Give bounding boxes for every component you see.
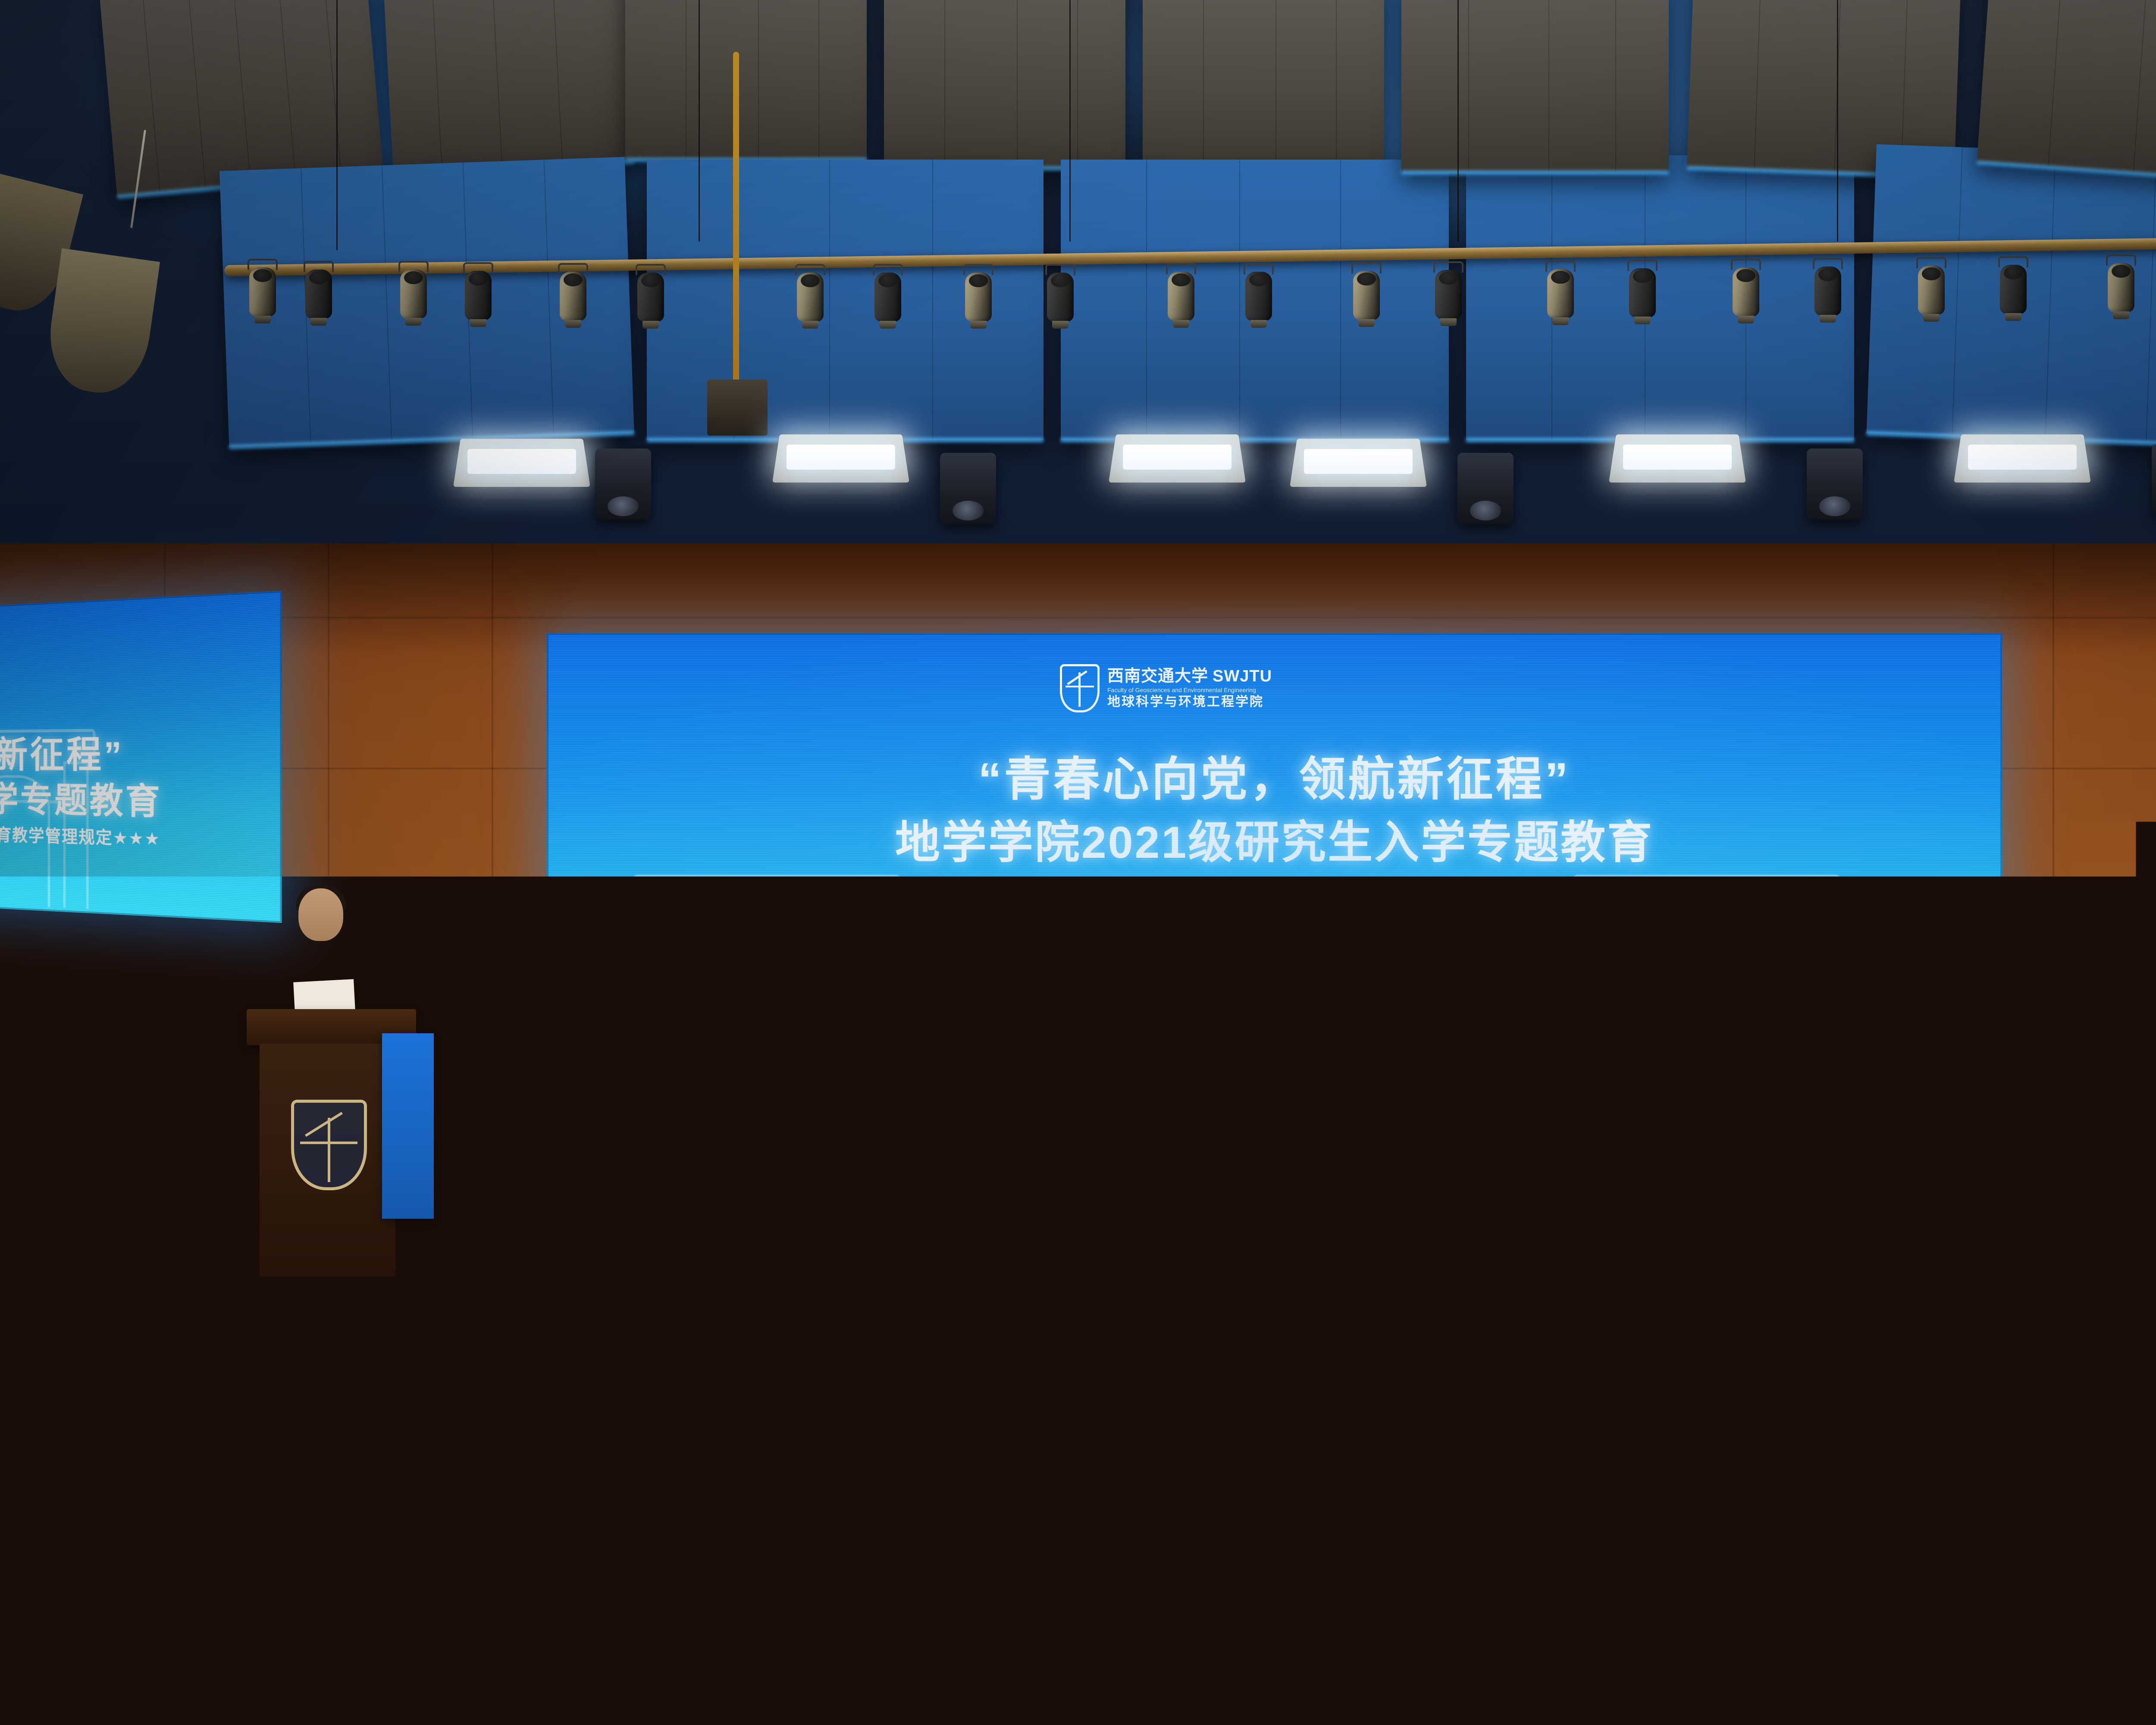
spotlight-fixture [793, 264, 827, 329]
spotlight-fixture [1242, 263, 1275, 328]
spotlight-fixture [1996, 256, 2030, 321]
slide-subheadline: 地学学院2021级研究生入学专题教育 [547, 806, 2002, 871]
audience-seat [759, 1555, 901, 1658]
floodlight [1294, 436, 1423, 487]
presidium-chair [1429, 941, 1522, 1070]
spotlight-fixture [1915, 257, 1948, 322]
speaker-notes [293, 979, 355, 1013]
acoustic-panel [625, 0, 867, 160]
spotlight-fixture [1544, 260, 1577, 325]
audience-desk [1932, 1647, 2156, 1690]
spotlight-fixture [1350, 262, 1383, 327]
moving-head-light [595, 448, 651, 520]
spotlight-fixture [246, 259, 279, 323]
left-screen-logo: SWJTU [0, 663, 1, 690]
acoustic-panel [383, 0, 635, 174]
logo-university-name: 西南交通大学SWJTU [1107, 668, 1272, 684]
spotlight-fixture [1729, 259, 1763, 323]
left-screen-headline: 领航新征程” [0, 724, 124, 779]
foreground-person [0, 1544, 229, 1725]
moving-head-light [1807, 448, 1863, 520]
spotlight-fixture [962, 264, 995, 329]
spotlight-fixture [871, 264, 905, 329]
acoustic-panel [1977, 0, 2156, 182]
audience-seat [1940, 1696, 2156, 1725]
floodlight [1958, 431, 2087, 483]
swjtu-shield-icon [1060, 664, 1100, 712]
left-screen-topics: 育 教育教学管理规定★★★ [0, 820, 160, 850]
presidium-chair [1927, 944, 2020, 1074]
speaker-head [298, 888, 343, 941]
moving-head-light [2152, 444, 2156, 515]
slide-topics: ★★★学术道德诚信教育 安全教育 教育教学管理规定★★★ [547, 879, 2002, 907]
foreground-person [1044, 1540, 1319, 1725]
floodlight [1112, 431, 1242, 483]
spotlight-fixture [461, 262, 495, 327]
rigging-rope [733, 52, 739, 388]
spotlight-fixture [556, 263, 590, 328]
faculty-logo-lockup: 西南交通大学SWJTU Faculty of Geosciences and E… [1060, 664, 1272, 712]
logo-faculty-en: Faculty of Geosciences and Environmental… [1107, 687, 1272, 693]
rigging-hardware [707, 379, 768, 436]
presidium-chair [599, 944, 692, 1074]
spotlight-fixture [1044, 264, 1077, 329]
presidium-chair [1761, 943, 1854, 1072]
spotlight-fixture [1432, 261, 1465, 326]
left-screen-subheadline: 生入学专题教育 [0, 771, 162, 825]
speaker-person [272, 888, 371, 1018]
foreground-person [1604, 1552, 1871, 1725]
floodlight [1613, 431, 1742, 483]
presidium-chair [1595, 942, 1688, 1071]
left-side-led-screen: SWJTU 领航新征程” 生入学专题教育 育 教育教学管理规定★★★ 工程学院 … [0, 591, 282, 923]
spotlight-fixture [2104, 254, 2138, 319]
acoustic-panel [1143, 0, 1384, 172]
spotlight-fixture [302, 261, 335, 326]
moving-head-light [1457, 453, 1514, 524]
floodlight [776, 431, 906, 483]
acoustic-panel [884, 0, 1125, 168]
moving-head-light [940, 453, 996, 524]
spotlight-fixture [1626, 260, 1659, 324]
spotlight-fixture [1811, 258, 1845, 323]
spotlight-fixture [634, 264, 667, 329]
presidium-chair [1263, 941, 1356, 1070]
presidium-chair [1097, 942, 1190, 1071]
presidium-chair [765, 944, 858, 1073]
audience-seat [207, 1695, 431, 1725]
audience-seating-area [0, 1164, 2156, 1725]
acoustic-panel [1466, 155, 1854, 440]
auditorium-photo: SWJTU 领航新征程” 生入学专题教育 育 教育教学管理规定★★★ 工程学院 … [0, 0, 2156, 1725]
spotlight-fixture [397, 261, 430, 326]
presidium-chair [931, 943, 1024, 1072]
spotlight-fixture [1164, 263, 1198, 328]
acoustic-panel [1401, 0, 1669, 172]
slide-headline: “青春心向党，领航新征程” [547, 742, 2002, 809]
pendant-reflector [43, 248, 160, 399]
audience-seat [457, 1696, 681, 1725]
floodlight [457, 436, 586, 487]
logo-faculty-cn: 地球科学与环境工程学院 [1107, 696, 1272, 709]
